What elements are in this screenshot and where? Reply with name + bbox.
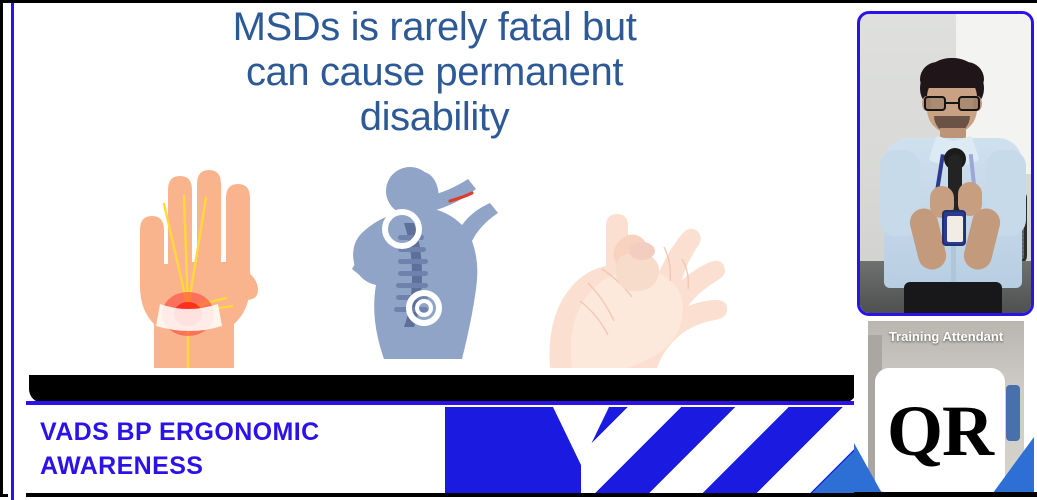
video-panel: Training Attendant QR (854, 3, 1037, 497)
title-line-1: MSDs is rarely fatal but (47, 5, 822, 50)
qr-code-card[interactable]: QR (875, 368, 1005, 493)
hand-massage-photo (532, 173, 762, 368)
screen-capture: MSDs is rarely fatal but can cause perma… (0, 0, 1037, 497)
panel-bottom-edge (854, 492, 1037, 497)
footer-black-edge (26, 493, 860, 497)
room-attendee (1006, 385, 1020, 441)
footer-stripe-graphic (445, 407, 860, 497)
presenter-video-tile[interactable] (857, 11, 1034, 316)
lens-right (958, 96, 980, 111)
glasses-bridge (946, 102, 958, 104)
illustration-row (17, 163, 851, 373)
hair-fringe (920, 62, 984, 88)
panel-accent-left (854, 443, 884, 497)
title-line-2: can cause permanent (47, 50, 822, 95)
lens-left (924, 96, 946, 111)
id-badge-card (947, 216, 963, 242)
trousers (904, 282, 1002, 316)
presentation-slide: MSDs is rarely fatal but can cause perma… (8, 3, 851, 500)
glasses-icon (924, 96, 980, 111)
slide-footer: VADS BP ERGONOMIC AWARENESS (26, 405, 860, 497)
id-badge (942, 210, 966, 246)
brand-line-1: VADS BP ERGONOMIC (40, 415, 460, 449)
slide-title: MSDs is rarely fatal but can cause perma… (47, 5, 822, 140)
title-line-3: disability (47, 95, 822, 140)
presenter-figure (880, 58, 1026, 316)
qr-label: QR (887, 395, 993, 467)
v-notch-shape (553, 407, 609, 465)
footer-accent-triangle (808, 445, 860, 497)
brand-line-2: AWARENESS (40, 449, 460, 483)
brand-title: VADS BP ERGONOMIC AWARENESS (40, 415, 460, 483)
tile-label: Training Attendant (868, 329, 1024, 345)
slide-black-bar (29, 375, 857, 403)
panel-accent-right (990, 437, 1034, 497)
back-pain-spine-icon (322, 163, 512, 368)
carpal-tunnel-hand-icon (102, 168, 312, 368)
slide-content-area: MSDs is rarely fatal but can cause perma… (17, 3, 851, 500)
